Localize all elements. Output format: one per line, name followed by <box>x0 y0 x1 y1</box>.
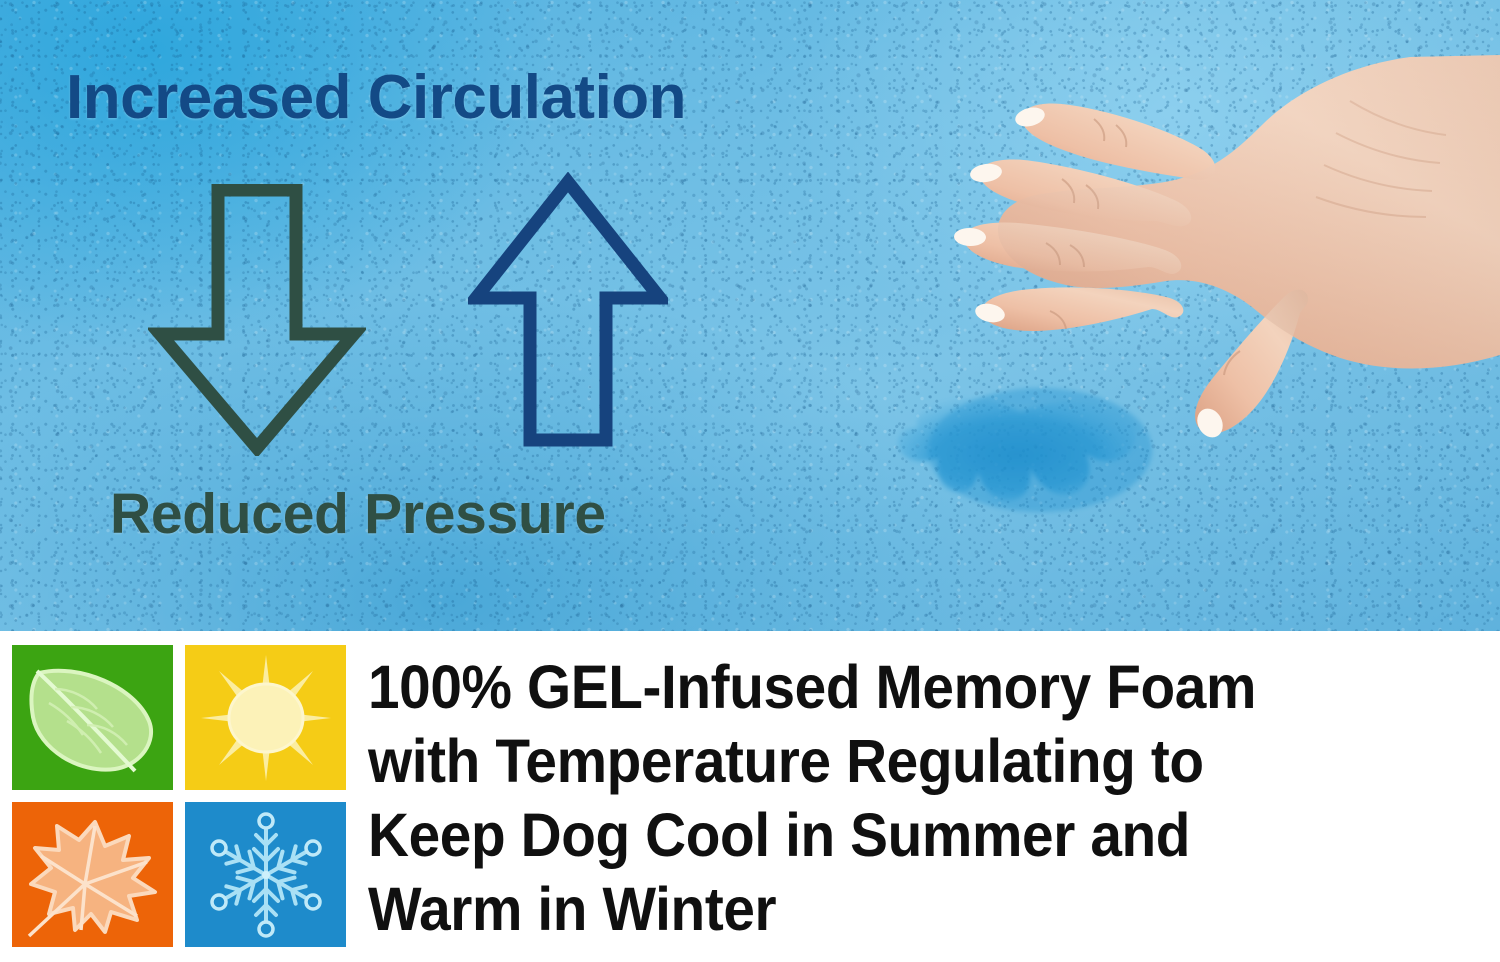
up-arrow-icon <box>468 172 668 450</box>
marketing-copy: 100% GEL-Infused Memory Foam with Temper… <box>368 650 1492 946</box>
copy-line-2: with Temperature Regulating to <box>368 724 1413 798</box>
increased-circulation-label: Increased Circulation <box>66 62 686 133</box>
reduced-pressure-label: Reduced Pressure <box>110 481 606 547</box>
autumn-leaf-tile <box>12 802 173 947</box>
winter-snow-tile <box>185 802 346 947</box>
copy-line-1: 100% GEL-Infused Memory Foam <box>368 650 1413 724</box>
maple-leaf-icon <box>25 812 161 938</box>
product-infographic: Increased Circulation Reduced Pressure <box>0 0 1500 962</box>
copy-line-3: Keep Dog Cool in Summer and <box>368 798 1413 872</box>
copy-line-4: Warm in Winter <box>368 872 1413 946</box>
memory-foam-photo-panel: Increased Circulation Reduced Pressure <box>0 0 1500 631</box>
spring-leaf-tile <box>12 645 173 790</box>
down-arrow-icon <box>148 184 366 456</box>
sun-icon <box>199 653 333 783</box>
summer-sun-tile <box>185 645 346 790</box>
four-season-tile-grid <box>12 645 346 955</box>
snowflake-icon <box>200 809 332 941</box>
hand-on-foam <box>880 55 1500 485</box>
leaf-icon <box>23 655 163 781</box>
